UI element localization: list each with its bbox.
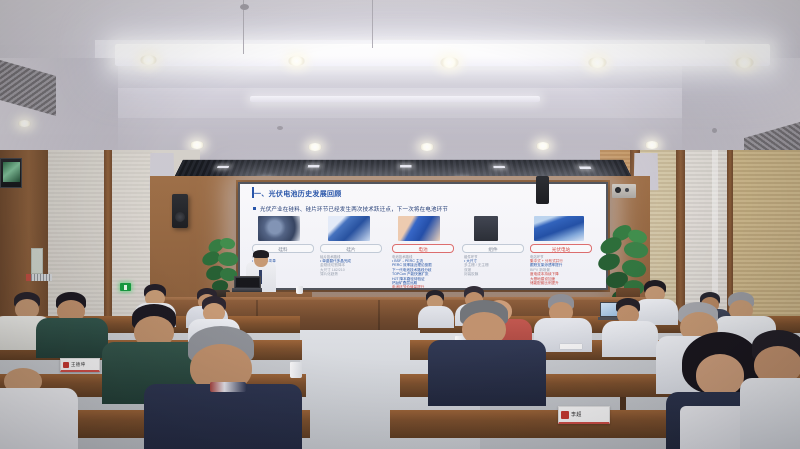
thumb-solar-cell xyxy=(398,216,440,241)
slide-bullet-text: 光伏产业在硅料、硅片环节已经发生两次技术跃迁点，下一次将在电池环节 xyxy=(260,205,448,213)
stage-label-2: 电池 xyxy=(392,244,454,253)
nameplate: 李超 xyxy=(558,406,610,424)
thumb-polysilicon xyxy=(258,216,300,241)
sprinkler-head xyxy=(277,126,283,130)
sprinkler-head xyxy=(240,4,249,10)
thumb-solar-plant xyxy=(534,216,584,241)
thumb-pv-module xyxy=(474,216,498,241)
stage-label-4-text: 光伏电站 xyxy=(531,245,591,254)
person-torso xyxy=(0,388,78,449)
downlight xyxy=(140,55,157,65)
stage-label-1: 硅片 xyxy=(320,244,382,253)
column-3-item-3: 封装胶膜 xyxy=(464,272,528,276)
column-4-item-5: 储能配套比例提升 xyxy=(530,281,600,285)
ceiling-wire xyxy=(372,0,373,48)
smoke-detector xyxy=(712,128,717,133)
speaker-cone-icon xyxy=(175,212,185,222)
person-head xyxy=(696,354,744,396)
slide-column-4: 电站环节 集中式 + 分布式并行 跟踪支架渗透率提升 BIPV 新场景 度电成本… xyxy=(530,255,600,285)
slide-thumbnail-row xyxy=(252,216,594,242)
nameplate: 王德坤 xyxy=(60,358,100,372)
thumb-silicon-wafer xyxy=(328,216,370,241)
person-collar xyxy=(210,382,246,392)
person-torso xyxy=(418,306,454,328)
nameplate-logo-icon xyxy=(561,411,569,419)
slide-bullet-marker xyxy=(253,207,256,210)
downlight xyxy=(190,141,204,149)
downlight xyxy=(18,120,31,127)
stage-label-3: 组件 xyxy=(462,244,524,253)
slide-stage-labels: 硅料 硅片 电池 组件 光伏电站 xyxy=(252,244,594,253)
paper-sheet xyxy=(560,344,582,349)
slide-detail-columns: 代表环节 • 主要技术变革 改良西门子法 冷氢化工艺 颗粒硅流化床 N型料提纯 … xyxy=(252,255,600,287)
led-ceiling-strip-light xyxy=(250,96,540,102)
presenter-laptop-screen xyxy=(236,278,259,287)
stage-label-2-text: 电池 xyxy=(393,245,453,254)
slide-heading: 一、光伏电池历史发展回顾 xyxy=(254,189,342,199)
slide-column-1: 硅片技术路线 • 单晶替代多晶完成 金刚线切割降本 大尺寸 182/210 薄片… xyxy=(320,255,384,277)
person-torso xyxy=(144,384,302,449)
downlight xyxy=(735,57,754,68)
downlight xyxy=(588,57,607,68)
downlight xyxy=(536,142,550,150)
nameplate-name: 李超 xyxy=(571,411,582,418)
downlight xyxy=(308,143,322,151)
wall-speaker-left xyxy=(172,194,188,228)
wall-display-image xyxy=(3,162,20,182)
downlight xyxy=(288,56,305,66)
downlight xyxy=(420,143,434,151)
person-torso xyxy=(740,378,800,449)
projector-indicator-icon xyxy=(625,188,629,192)
emergency-exit-sign xyxy=(120,283,131,291)
plant-leaf xyxy=(597,252,621,272)
paper-cup xyxy=(296,286,303,294)
person-torso xyxy=(428,340,546,406)
wall-control-panel xyxy=(31,248,43,274)
projection-screen: 一、光伏电池历史发展回顾 光伏产业在硅料、硅片环节已经发生两次技术跃迁点，下一次… xyxy=(240,184,606,288)
stage-label-3-text: 组件 xyxy=(463,245,523,254)
wall-display xyxy=(0,158,22,188)
person-torso xyxy=(36,318,108,358)
downlight xyxy=(440,57,459,68)
projector-lens-icon xyxy=(615,187,621,193)
wall-switch-red xyxy=(26,274,31,281)
nameplate-name: 王德坤 xyxy=(71,362,85,368)
slide-column-3: 组件环节 • 大尺寸 多主栅 / 无主栅 双玻 封装胶膜 xyxy=(464,255,528,277)
slide-column-2: 电池技术路线 • BSF→PERC 主流 PERC 效率接近理论极限 下一代电池… xyxy=(392,255,462,288)
slat-light xyxy=(579,167,591,169)
paper-cup xyxy=(290,362,302,378)
column-2-item-6: 电池环节价值量提升 xyxy=(392,285,462,288)
plant-leaf xyxy=(622,239,649,260)
presenter-hair xyxy=(253,250,269,258)
slat-light xyxy=(308,165,320,167)
stage-front-seam xyxy=(378,300,380,334)
conference-room-photo: 一、光伏电池历史发展回顾 光伏产业在硅料、硅片环节已经发生两次技术跃迁点，下一次… xyxy=(0,0,800,449)
slat-light xyxy=(217,166,229,168)
slat-light xyxy=(493,166,505,168)
slat-light xyxy=(400,165,411,167)
nameplate-logo-icon xyxy=(63,362,69,368)
downlight xyxy=(645,141,659,149)
person-torso xyxy=(602,321,658,357)
presenter-laptop-base xyxy=(232,288,262,292)
stage-label-4: 光伏电站 xyxy=(530,244,592,253)
stage-label-1-text: 硅片 xyxy=(321,245,381,254)
column-1-item-3: 薄片化趋势 xyxy=(320,272,384,276)
wall-speaker-right xyxy=(536,176,549,204)
